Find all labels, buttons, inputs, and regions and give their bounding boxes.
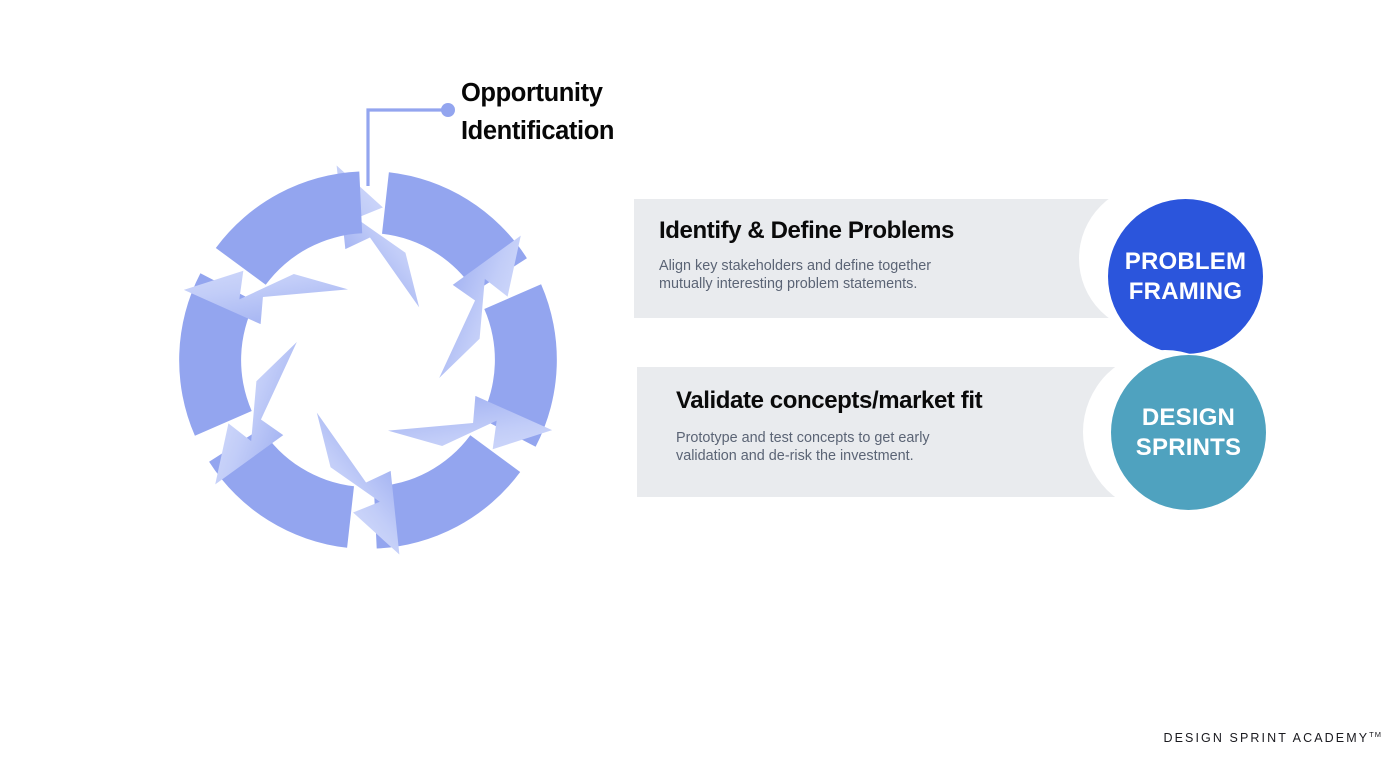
footer-brand-logo: DESIGN SPRINT ACADEMYTM (1163, 730, 1382, 745)
row-description: Prototype and test concepts to get early… (676, 429, 982, 465)
badge-label: PROBLEM FRAMING (1125, 247, 1246, 307)
callout-dot (441, 103, 455, 117)
badge-label-line2: FRAMING (1125, 277, 1246, 307)
badge-label-line2: SPRINTS (1136, 433, 1241, 463)
row-text-problem-framing: Identify & Define Problems Align key sta… (659, 217, 954, 293)
row-description-line1: Align key stakeholders and define togeth… (659, 257, 954, 275)
badge-label: DESIGN SPRINTS (1136, 403, 1241, 463)
badge-problem-framing[interactable]: PROBLEM FRAMING (1108, 199, 1263, 354)
trademark-symbol: TM (1369, 730, 1382, 739)
ring-arrow-segment-1 (334, 157, 527, 317)
row-description-line2: validation and de-risk the investment. (676, 447, 982, 465)
row-description: Align key stakeholders and define togeth… (659, 257, 954, 293)
callout-label: Opportunity Identification (461, 74, 721, 150)
row-title: Validate concepts/market fit (676, 387, 982, 415)
row-text-design-sprints: Validate concepts/market fit Prototype a… (676, 387, 982, 465)
slide-canvas: Opportunity Identification Identify & De… (0, 0, 1400, 773)
row-problem-framing[interactable]: Identify & Define Problems Align key sta… (634, 199, 1266, 354)
badge-label-line1: DESIGN (1136, 403, 1241, 433)
footer-brand-name: DESIGN SPRINT ACADEMY (1163, 731, 1369, 745)
row-description-line1: Prototype and test concepts to get early (676, 429, 982, 447)
row-design-sprints[interactable]: Validate concepts/market fit Prototype a… (637, 367, 1277, 527)
callout-connector (368, 103, 455, 186)
row-description-line2: mutually interesting problem statements. (659, 275, 954, 293)
callout-label-line2: Identification (461, 112, 721, 150)
callout-leader-line (368, 110, 448, 186)
callout-label-line1: Opportunity (461, 79, 603, 107)
ring-segments (113, 121, 624, 599)
row-title: Identify & Define Problems (659, 217, 954, 245)
badge-design-sprints[interactable]: DESIGN SPRINTS (1111, 355, 1266, 510)
badge-label-line1: PROBLEM (1125, 247, 1246, 277)
ring-arrow-segment-4 (209, 404, 402, 564)
